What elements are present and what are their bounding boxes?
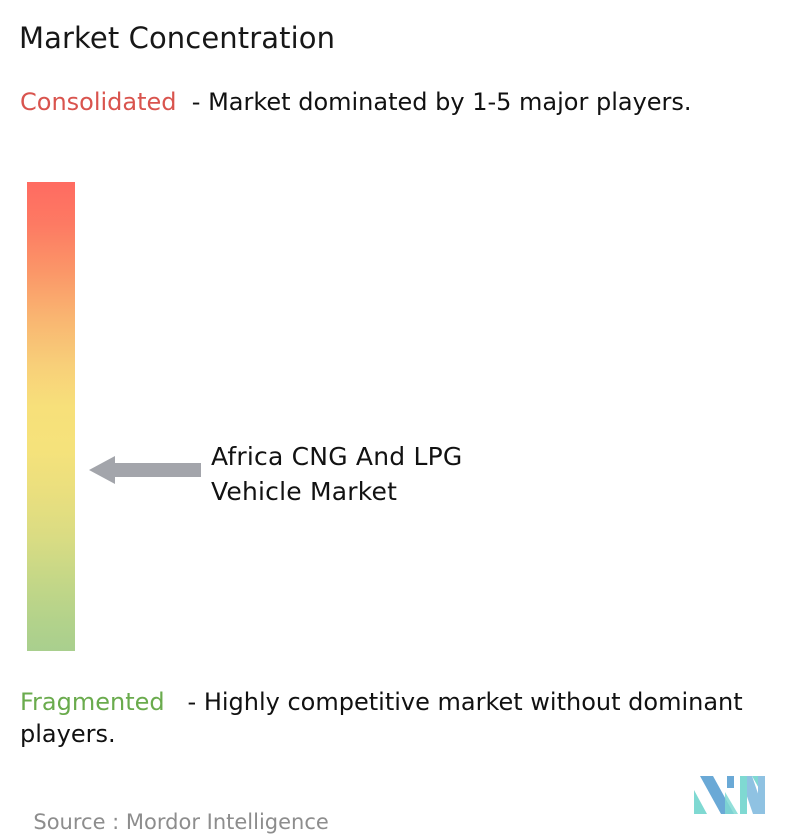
legend-separator-consolidated: - <box>177 88 209 116</box>
legend-description-consolidated: Market dominated by 1-5 major players. <box>208 88 691 116</box>
mordor-intelligence-logo-icon <box>694 768 766 814</box>
callout-label: Africa CNG And LPG Vehicle Market <box>211 439 541 509</box>
legend-term-consolidated: Consolidated <box>20 88 177 116</box>
source-value: Mordor Intelligence <box>126 810 329 834</box>
page-title: Market Concentration <box>19 20 335 56</box>
source-row: Source : Mordor Intelligence <box>20 780 329 836</box>
pointer-arrow-left-icon <box>89 452 201 488</box>
legend-term-fragmented: Fragmented <box>20 688 165 716</box>
legend-fragmented: Fragmented - Highly competitive market w… <box>20 686 792 750</box>
legend-separator-fragmented: - <box>165 688 204 716</box>
legend-consolidated: Consolidated - Market dominated by 1-5 m… <box>20 86 780 118</box>
source-label: Source : <box>33 810 126 834</box>
callout-label-line1: Africa CNG And LPG <box>211 439 541 474</box>
concentration-scale-bar <box>27 182 75 651</box>
callout-label-line2: Vehicle Market <box>211 474 541 509</box>
